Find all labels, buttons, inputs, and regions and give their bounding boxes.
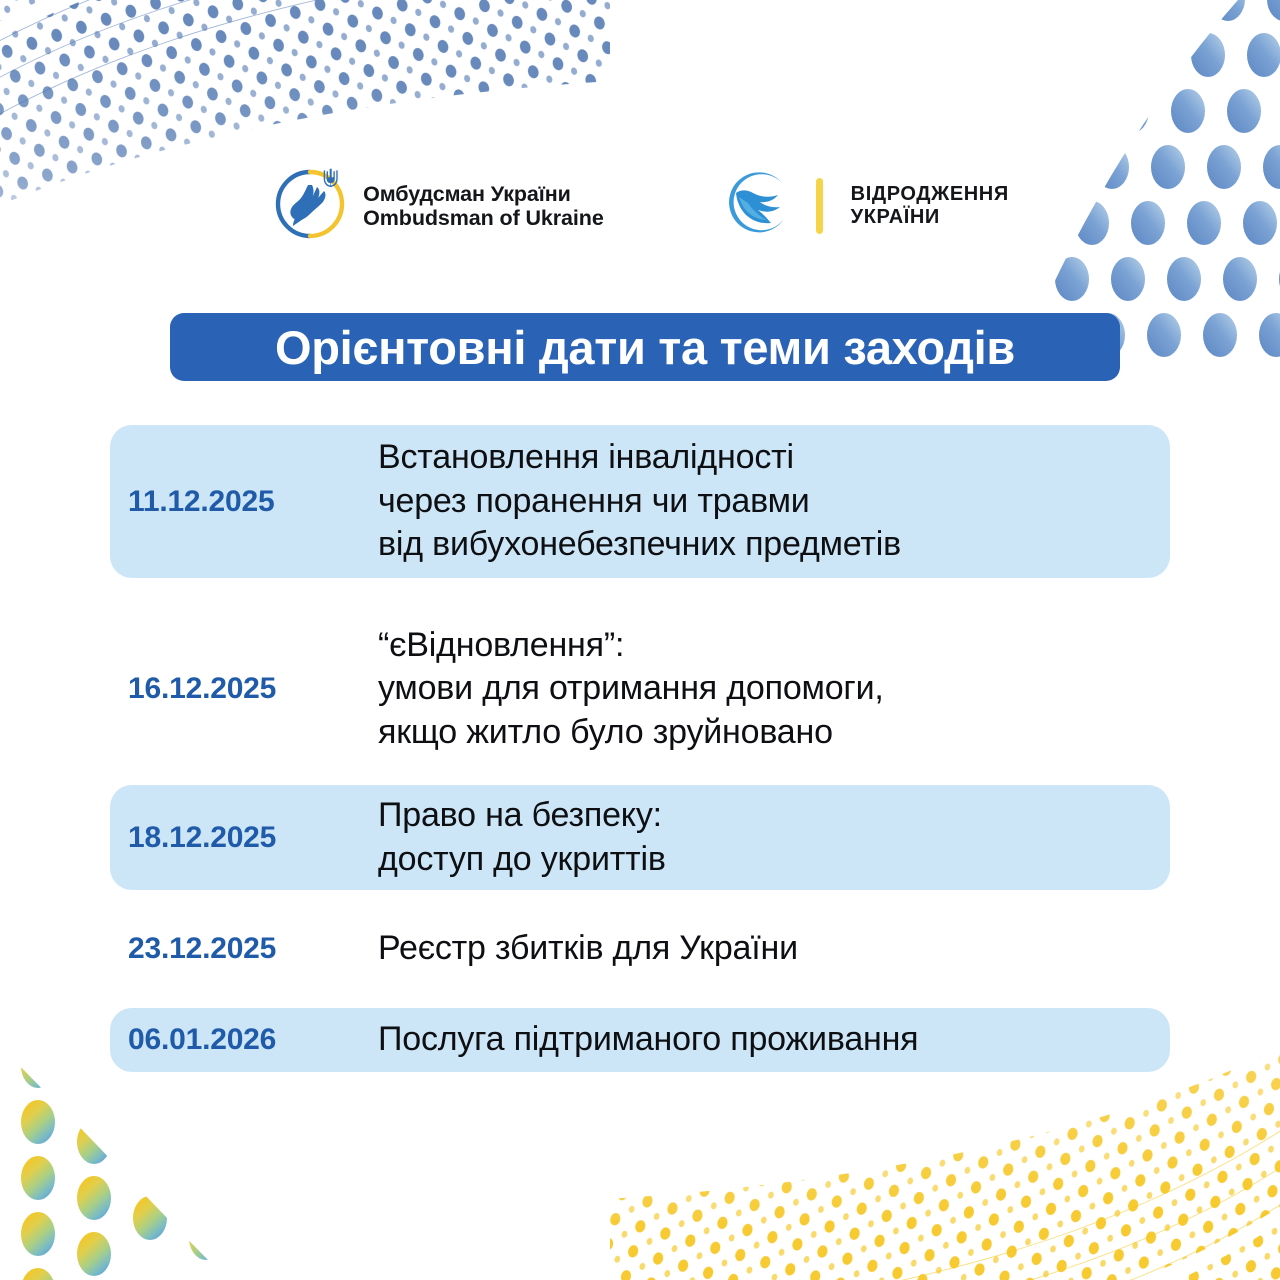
schedule-topic-3-line-1: Право на безпеку:	[378, 794, 666, 838]
poster-canvas: Омбудсман України Ombudsman of Ukraine В…	[0, 0, 1280, 1280]
page-title: Орієнтовні дати та теми заходів	[275, 320, 1015, 375]
ombudsman-logo-text: Омбудсман України Ombudsman of Ukraine	[363, 182, 604, 230]
revival-name-line1: ВІДРОДЖЕННЯ	[851, 183, 1009, 206]
schedule-topic-1-line-1: Встановлення інвалідності	[378, 436, 901, 480]
schedule-date-5: 06.01.2026	[110, 1023, 378, 1057]
schedule-date-2: 16.12.2025	[110, 672, 378, 706]
ombudsman-name-en: Ombudsman of Ukraine	[363, 206, 604, 230]
revival-name-line2: УКРАЇНИ	[851, 206, 1009, 229]
schedule-date-3: 18.12.2025	[110, 821, 378, 855]
logo-bar: Омбудсман України Ombudsman of Ukraine В…	[0, 160, 1280, 252]
phoenix-bird-circle-icon	[722, 167, 796, 246]
ombudsman-dove-hand-circle-icon	[271, 165, 349, 248]
schedule-date-1: 11.12.2025	[110, 485, 378, 519]
schedule-topic-2-line-2: умови для отримання допомоги,	[378, 667, 884, 711]
logo-ombudsman: Омбудсман України Ombudsman of Ukraine	[271, 165, 604, 248]
schedule-row-2[interactable]: 16.12.2025 “єВідновлення”: умови для отр…	[110, 600, 1170, 778]
schedule-topic-4: Реєстр збитків для України	[378, 927, 798, 971]
schedule-topic-3: Право на безпеку: доступ до укриттів	[378, 794, 666, 881]
schedule-list: 11.12.2025 Встановлення інвалідності чер…	[110, 425, 1170, 1072]
row-gap-1	[110, 578, 1170, 600]
row-gap-2	[110, 778, 1170, 785]
schedule-topic-2-line-3: якщо житло було зруйновано	[378, 711, 884, 755]
page-title-banner: Орієнтовні дати та теми заходів	[170, 313, 1120, 381]
schedule-row-3[interactable]: 18.12.2025 Право на безпеку: доступ до у…	[110, 785, 1170, 890]
ombudsman-name-uk: Омбудсман України	[363, 182, 604, 206]
schedule-row-1[interactable]: 11.12.2025 Встановлення інвалідності чер…	[110, 425, 1170, 578]
row-gap-3	[110, 890, 1170, 910]
schedule-row-4[interactable]: 23.12.2025 Реєстр збитків для України	[110, 910, 1170, 988]
row-gap-4	[110, 988, 1170, 1008]
schedule-row-5[interactable]: 06.01.2026 Послуга підтриманого проживан…	[110, 1008, 1170, 1072]
schedule-topic-1-line-3: від вибухонебезпечних предметів	[378, 523, 901, 567]
schedule-date-4: 23.12.2025	[110, 932, 378, 966]
schedule-topic-5: Послуга підтриманого проживання	[378, 1018, 918, 1062]
schedule-topic-2-line-1: “єВідновлення”:	[378, 624, 884, 668]
logo-revival-of-ukraine: ВІДРОДЖЕННЯ УКРАЇНИ	[722, 167, 1009, 246]
schedule-topic-3-line-2: доступ до укриттів	[378, 838, 666, 882]
schedule-topic-5-line-1: Послуга підтриманого проживання	[378, 1018, 918, 1062]
logo-divider	[816, 178, 823, 234]
schedule-topic-2: “єВідновлення”: умови для отримання допо…	[378, 624, 884, 755]
revival-logo-text: ВІДРОДЖЕННЯ УКРАЇНИ	[851, 183, 1009, 229]
schedule-topic-1-line-2: через поранення чи травми	[378, 480, 901, 524]
schedule-topic-4-line-1: Реєстр збитків для України	[378, 927, 798, 971]
schedule-topic-1: Встановлення інвалідності через пораненн…	[378, 436, 901, 567]
